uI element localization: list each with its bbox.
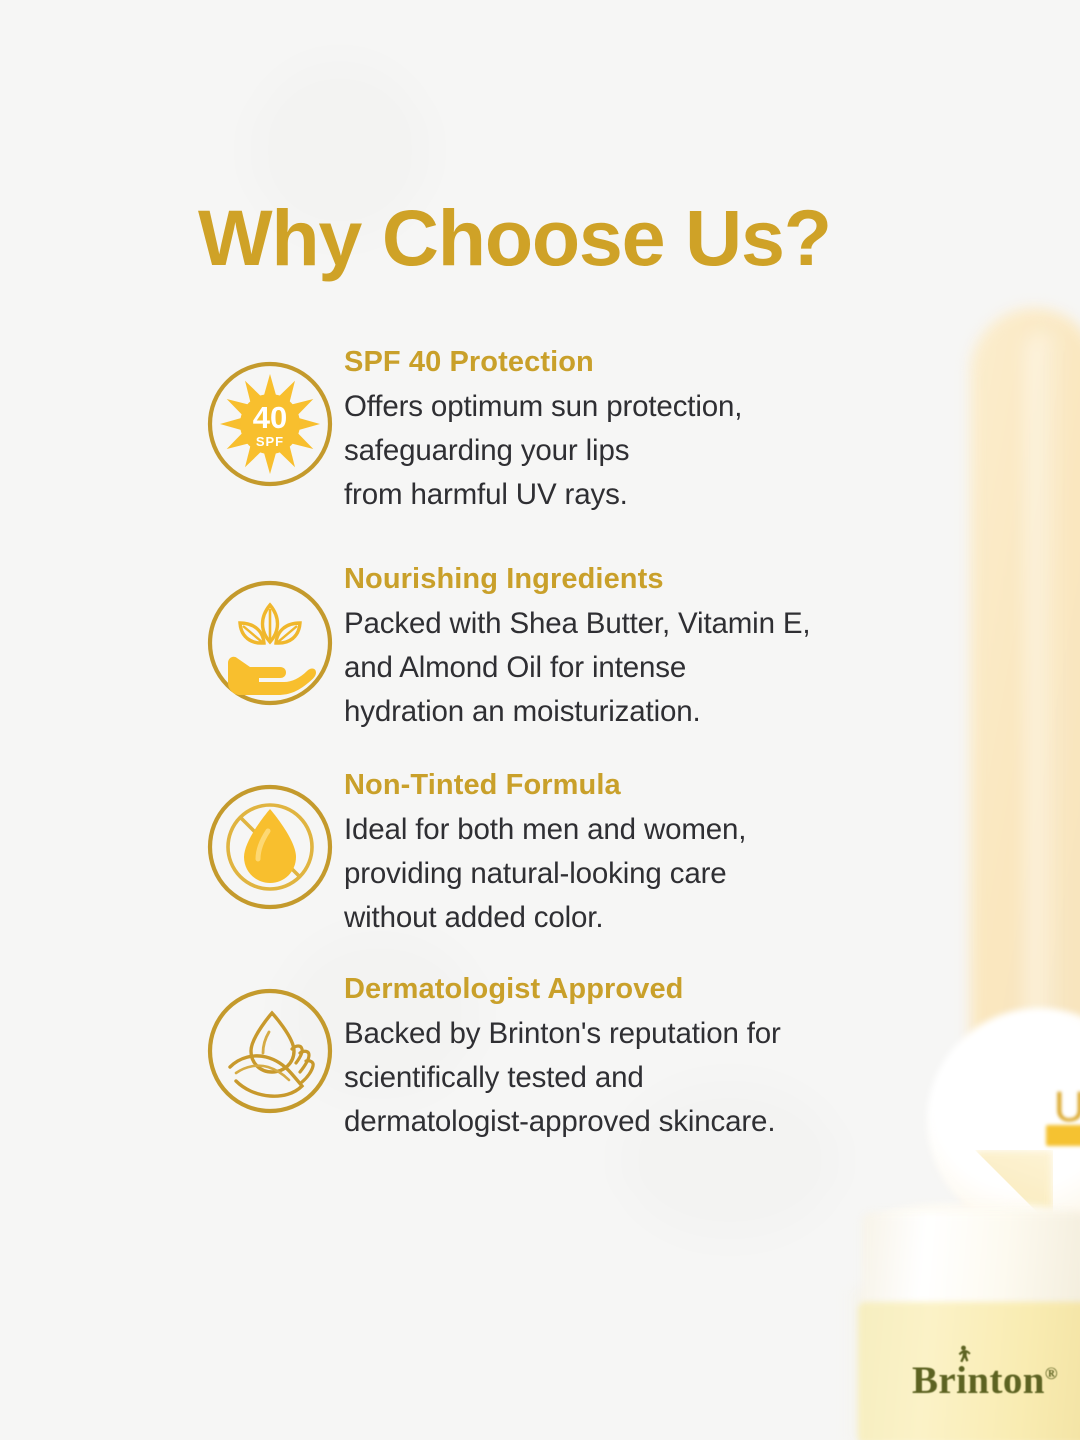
feature-title: SPF 40 Protection <box>344 346 996 379</box>
feature-text: Non-Tinted Formula Ideal for both men an… <box>344 761 996 940</box>
feature-item-dermatologist: Dermatologist Approved Backed by Brinton… <box>196 965 996 1144</box>
hand-with-droplet-icon <box>206 987 334 1115</box>
feature-list: 40 SPF SPF 40 Protection Offers optimum … <box>196 338 996 1169</box>
brinton-person-icon <box>953 1344 973 1364</box>
feature-desc-line: hydration an moisturization. <box>344 690 996 734</box>
product-tube-highlight <box>1026 330 1066 1230</box>
spf-number: 40 <box>253 400 287 435</box>
feature-title: Dermatologist Approved <box>344 973 996 1006</box>
spf-label: SPF <box>256 434 284 449</box>
spf-sun-icon: 40 SPF <box>206 360 334 488</box>
feature-title: Non-Tinted Formula <box>344 769 996 802</box>
feature-desc-line: safeguarding your lips <box>344 429 996 473</box>
feature-item-non-tinted: Non-Tinted Formula Ideal for both men an… <box>196 761 996 940</box>
feature-description: Backed by Brinton's reputation for scien… <box>344 1012 996 1144</box>
feature-item-spf: 40 SPF SPF 40 Protection Offers optimum … <box>196 338 996 517</box>
feature-icon-wrap: 40 SPF <box>196 338 344 488</box>
jar-side-shadow <box>846 1290 882 1440</box>
brinton-wordmark-text: Brinton <box>912 1359 1045 1402</box>
product-label-letter: U <box>1054 1083 1080 1132</box>
registered-trademark-icon: ® <box>1045 1364 1058 1383</box>
feature-description: Packed with Shea Butter, Vitamin E, and … <box>344 602 996 734</box>
feature-text: Nourishing Ingredients Packed with Shea … <box>344 555 996 734</box>
feature-desc-line: Offers optimum sun protection, <box>344 385 996 429</box>
jar-body <box>858 1302 1080 1440</box>
hand-holding-leaves-icon <box>206 579 334 707</box>
page-title: Why Choose Us? <box>198 192 831 284</box>
brinton-wordmark: Brinton® <box>912 1358 1058 1403</box>
feature-icon-wrap <box>196 965 344 1115</box>
feature-icon-wrap <box>196 761 344 911</box>
feature-desc-line: Packed with Shea Butter, Vitamin E, <box>344 602 996 646</box>
feature-icon-wrap <box>196 555 344 707</box>
feature-description: Ideal for both men and women, providing … <box>344 808 996 940</box>
feature-desc-line: Backed by Brinton's reputation for <box>344 1012 996 1056</box>
jar-cap <box>862 1212 1080 1332</box>
feature-title: Nourishing Ingredients <box>344 563 996 596</box>
feature-text: SPF 40 Protection Offers optimum sun pro… <box>344 338 996 517</box>
feature-desc-line: and Almond Oil for intense <box>344 646 996 690</box>
no-tint-droplet-icon <box>206 783 334 911</box>
product-label-bar <box>1046 1125 1080 1146</box>
jar-cap-top <box>874 1204 1079 1242</box>
feature-desc-line: dermatologist-approved skincare. <box>344 1100 996 1144</box>
feature-desc-line: Ideal for both men and women, <box>344 808 996 852</box>
feature-text: Dermatologist Approved Backed by Brinton… <box>344 965 996 1144</box>
feature-desc-line: providing natural-looking care <box>344 852 996 896</box>
feature-desc-line: scientifically tested and <box>344 1056 996 1100</box>
feature-desc-line: without added color. <box>344 896 996 940</box>
feature-description: Offers optimum sun protection, safeguard… <box>344 385 996 517</box>
feature-item-ingredients: Nourishing Ingredients Packed with Shea … <box>196 555 996 734</box>
feature-desc-line: from harmful UV rays. <box>344 473 996 517</box>
